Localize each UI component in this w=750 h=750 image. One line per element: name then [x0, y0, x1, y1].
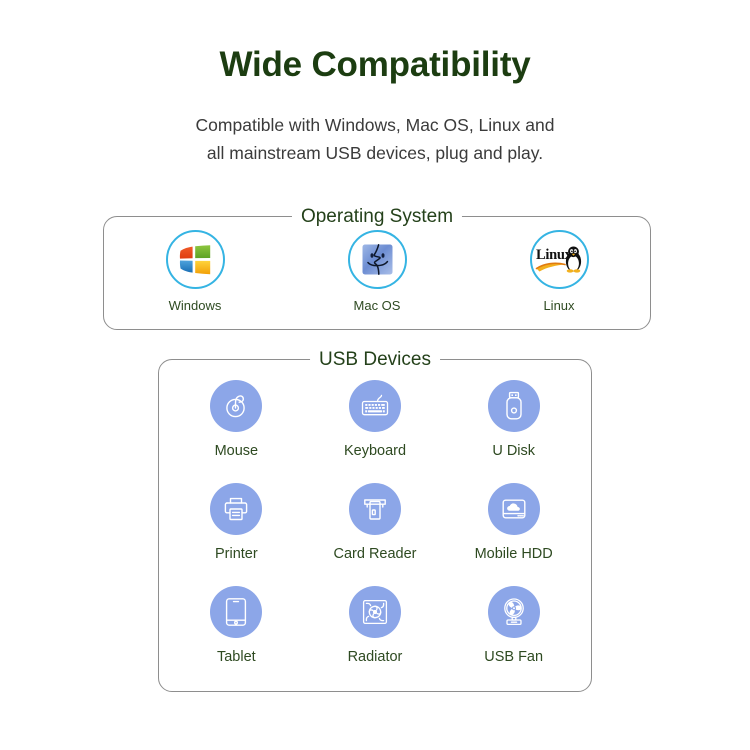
external-hard-drive-icon	[500, 495, 528, 523]
usb-devices-panel-legend: USB Devices	[310, 347, 440, 372]
operating-system-list: Windows	[104, 217, 650, 329]
usb-device-mouse[interactable]: Mouse	[167, 374, 306, 477]
usb-device-radiator[interactable]: Radiator	[306, 580, 445, 683]
usb-icon-circle-keyboard	[349, 380, 401, 432]
usb-label-mouse: Mouse	[215, 443, 259, 460]
usb-label-keyboard: Keyboard	[344, 443, 406, 460]
usb-icon-circle-card-reader	[349, 483, 401, 535]
os-item-linux[interactable]: Linux	[484, 230, 634, 314]
usb-label-usb-fan: USB Fan	[484, 649, 543, 666]
subtitle-line-1: Compatible with Windows, Mac OS, Linux a…	[0, 111, 750, 139]
radiator-fan-icon	[361, 598, 389, 626]
os-label-windows: Windows	[120, 298, 270, 314]
os-label-macos: Mac OS	[302, 298, 452, 314]
os-icon-ring-macos	[348, 230, 407, 289]
page-title: Wide Compatibility	[0, 0, 750, 85]
printer-icon	[222, 495, 250, 523]
page-header: Wide Compatibility Compatible with Windo…	[0, 0, 750, 167]
usb-icon-circle-tablet	[210, 586, 262, 638]
usb-label-card-reader: Card Reader	[333, 546, 416, 563]
operating-system-panel: Operating System	[103, 216, 651, 330]
keyboard-icon	[360, 392, 390, 420]
mouse-icon	[222, 392, 250, 420]
usb-icon-circle-radiator	[349, 586, 401, 638]
os-icon-ring-linux: Linux	[530, 230, 589, 289]
usb-device-mobile-hdd[interactable]: Mobile HDD	[444, 477, 583, 580]
usb-icon-circle-mobile-hdd	[488, 483, 540, 535]
tablet-icon	[224, 597, 248, 627]
mac-finder-face-icon	[361, 243, 394, 276]
linux-tux-logo-icon: Linux	[535, 243, 583, 277]
usb-device-printer[interactable]: Printer	[167, 477, 306, 580]
usb-icon-circle-usb-fan	[488, 586, 540, 638]
os-label-linux: Linux	[484, 298, 634, 314]
usb-devices-panel: USB Devices Mouse	[158, 359, 592, 692]
usb-label-mobile-hdd: Mobile HDD	[475, 546, 553, 563]
desk-fan-icon	[500, 597, 528, 627]
usb-flash-drive-icon	[503, 391, 525, 421]
usb-device-u-disk[interactable]: U Disk	[444, 374, 583, 477]
page-subtitle: Compatible with Windows, Mac OS, Linux a…	[0, 85, 750, 167]
subtitle-line-2: all mainstream USB devices, plug and pla…	[0, 139, 750, 167]
usb-device-usb-fan[interactable]: USB Fan	[444, 580, 583, 683]
card-reader-icon	[361, 495, 389, 523]
usb-label-tablet: Tablet	[217, 649, 256, 666]
operating-system-panel-legend: Operating System	[292, 204, 462, 229]
usb-icon-circle-u-disk	[488, 380, 540, 432]
windows-logo-icon	[178, 244, 212, 276]
usb-device-card-reader[interactable]: Card Reader	[306, 477, 445, 580]
usb-icon-circle-printer	[210, 483, 262, 535]
usb-label-printer: Printer	[215, 546, 258, 563]
usb-device-tablet[interactable]: Tablet	[167, 580, 306, 683]
usb-devices-grid: Mouse	[159, 360, 591, 691]
os-item-windows[interactable]: Windows	[120, 230, 270, 314]
usb-icon-circle-mouse	[210, 380, 262, 432]
os-item-macos[interactable]: Mac OS	[302, 230, 452, 314]
usb-label-u-disk: U Disk	[492, 443, 535, 460]
usb-label-radiator: Radiator	[348, 649, 403, 666]
os-icon-ring-windows	[166, 230, 225, 289]
usb-device-keyboard[interactable]: Keyboard	[306, 374, 445, 477]
